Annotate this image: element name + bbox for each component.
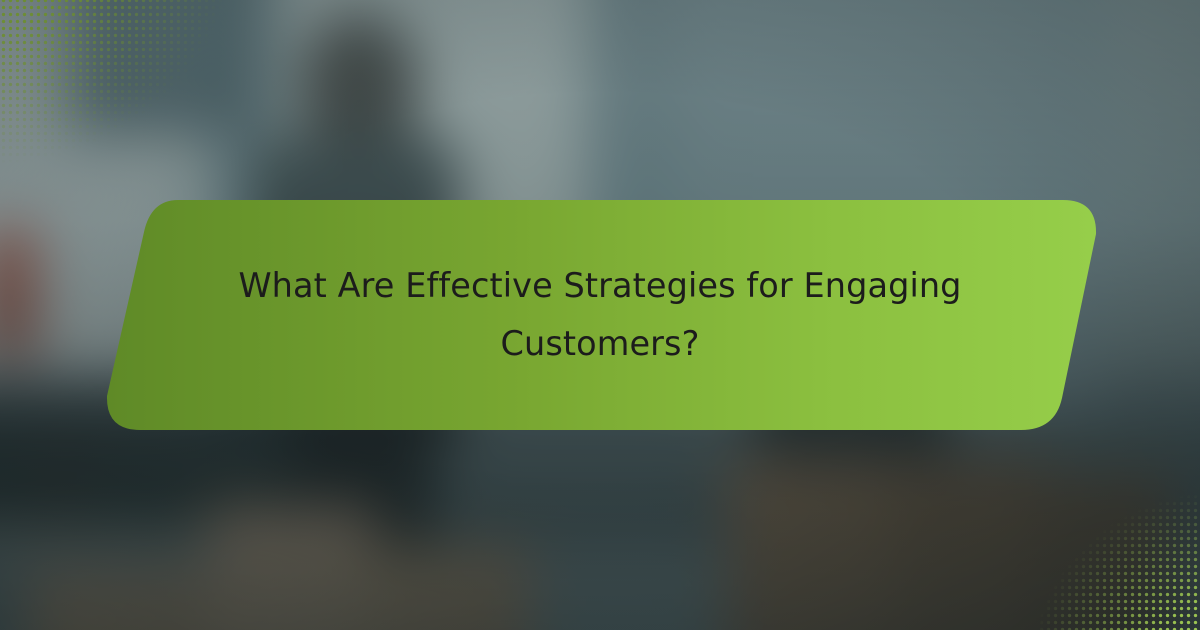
page-title-line-1: What Are Effective Strategies for Engagi… bbox=[238, 257, 961, 315]
halftone-dots-bottom-right-icon bbox=[940, 416, 1200, 630]
title-text-block: What Are Effective Strategies for Engagi… bbox=[200, 198, 1000, 432]
article-header-card: What Are Effective Strategies for Engagi… bbox=[0, 0, 1200, 630]
title-banner: What Are Effective Strategies for Engagi… bbox=[0, 198, 1200, 432]
page-title-line-2: Customers? bbox=[501, 315, 700, 373]
